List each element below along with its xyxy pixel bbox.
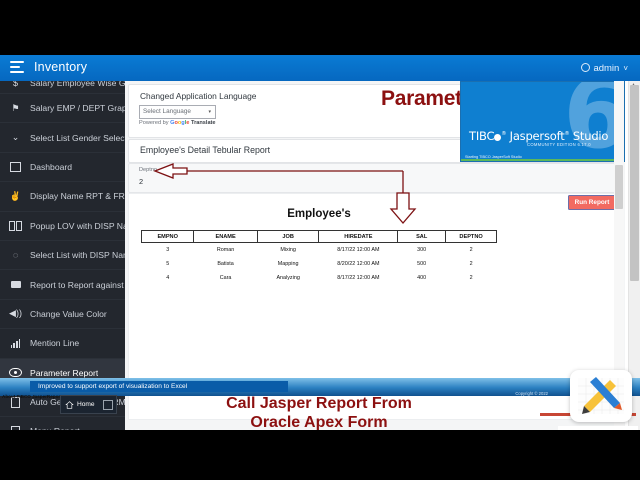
- google-wordmark: Google: [170, 120, 189, 126]
- table-row: 5 Batista Mapping 8/20/22 12:00 AM 500 2: [142, 257, 497, 271]
- cell-hiredate: 8/17/22 12:00 AM: [319, 271, 398, 285]
- user-icon: [581, 63, 590, 72]
- cell-empno: 4: [142, 271, 194, 285]
- sidebar-item-display-name-rpt-frm[interactable]: ✌ Display Name RPT & FRM: [0, 182, 125, 211]
- jasper-status-line: Improved to support export of visualizat…: [30, 381, 288, 392]
- letterbox-bottom: [0, 430, 640, 480]
- cell-job: Mapping: [257, 257, 319, 271]
- chevron-down-icon: ˅: [623, 64, 628, 73]
- apex-pencil-icon: [570, 370, 632, 422]
- callout-line-1: Call Jasper Report From: [129, 394, 509, 413]
- language-select-value: Select Language: [143, 106, 191, 118]
- deptno-label: Deptno: [139, 167, 157, 173]
- annotation-callout: Call Jasper Report From Oracle Apex Form: [129, 394, 509, 430]
- cell-empno: 3: [142, 243, 194, 258]
- cell-job: Analyzing: [257, 271, 319, 285]
- cell-sal: 400: [398, 271, 446, 285]
- sidebar-item-report-to-report-against-id[interactable]: Report to Report against ID: [0, 270, 125, 299]
- suite-name: Studio: [573, 129, 608, 143]
- jaspersoft-wordmark: TIBC® Jaspersoft® Studio: [469, 129, 608, 143]
- letterbox-top: [0, 0, 640, 55]
- cell-hiredate: 8/20/22 12:00 AM: [319, 257, 398, 271]
- sidebar-item-label: Dashboard: [30, 162, 72, 172]
- parameter-card: Deptno 2: [128, 163, 616, 193]
- chevron-down-icon: ▾: [208, 106, 211, 118]
- sidebar-item-select-list-gender-select[interactable]: ⌄ Select List Gender Select: [0, 123, 125, 152]
- column-header: JOB: [257, 231, 319, 243]
- sidebar-item-label: Salary Employee Wise Graph: [30, 81, 125, 88]
- language-select[interactable]: Select Language ▾: [139, 105, 216, 119]
- user-name: admin: [593, 63, 619, 74]
- cell-deptno: 2: [446, 271, 497, 285]
- table-header-row: EMPNO ENAME JOB HIREDATE SAL DEPTNO: [142, 231, 497, 243]
- bar-chart-icon: [8, 337, 23, 350]
- desktop-screen: Inventory admin˅ $ Salary Employee Wise …: [0, 55, 640, 430]
- folder-icon: [8, 278, 23, 291]
- translate-text: Translate: [191, 120, 216, 126]
- sidebar-item-label: Mention Line: [30, 338, 79, 348]
- table-row: 4 Cara Analyzing 8/17/22 12:00 AM 400 2: [142, 271, 497, 285]
- currency-icon: $: [8, 81, 23, 90]
- flag-icon: ⚑: [8, 102, 23, 115]
- column-header: DEPTNO: [446, 231, 497, 243]
- language-card-title: Changed Application Language: [140, 91, 256, 101]
- two-panel-icon: [8, 219, 23, 232]
- speaker-icon: ◀)): [8, 307, 23, 320]
- sidebar-item-label: Change Value Color: [30, 309, 107, 319]
- table-row: 3 Roman Mixing 8/17/22 12:00 AM 300 2: [142, 243, 497, 258]
- home-icon: [65, 401, 74, 409]
- cell-sal: 500: [398, 257, 446, 271]
- hand-icon: ✌: [8, 190, 23, 203]
- jaspersoft-studio-splash: 6 TIBC® Jaspersoft® Studio COMMUNITY EDI…: [460, 81, 625, 162]
- sidebar-item-label: Parameter Report: [30, 368, 98, 378]
- employee-table: EMPNO ENAME JOB HIREDATE SAL DEPTNO 3 Ro…: [141, 230, 497, 285]
- cell-job: Mixing: [257, 243, 319, 258]
- sidebar-item-label: Select List Gender Select: [30, 133, 125, 143]
- sidebar-item-menu-report[interactable]: Menu Report: [0, 417, 125, 430]
- tibco-brand: TIBC: [469, 129, 494, 143]
- powered-by-text: Powered by: [139, 120, 170, 126]
- google-translate-attribution: Powered by Google Translate: [139, 120, 216, 126]
- report-header-title: Employee's Detail Tebular Report: [140, 145, 270, 155]
- home-widget[interactable]: Home: [60, 395, 117, 414]
- run-report-button[interactable]: Run Report: [568, 195, 616, 210]
- sidebar-item-popup-lov-with-disp-name[interactable]: Popup LOV with DISP Name: [0, 212, 125, 241]
- column-header: SAL: [398, 231, 446, 243]
- registered-mark: ®: [501, 131, 506, 137]
- sidebar-item-label: Popup LOV with DISP Name: [30, 221, 125, 231]
- column-header: EMPNO: [142, 231, 194, 243]
- sidebar-item-label: Select List with DISP Name: [30, 250, 125, 260]
- cell-sal: 300: [398, 243, 446, 258]
- sidebar-item-change-value-color[interactable]: ◀)) Change Value Color: [0, 300, 125, 329]
- page-title: Inventory: [34, 60, 87, 74]
- registered-mark: ®: [565, 131, 570, 137]
- edit-icon[interactable]: [103, 400, 113, 410]
- cell-ename: Batista: [194, 257, 257, 271]
- product-name: Jaspersoft: [510, 129, 565, 143]
- callout-line-2: Oracle Apex Form: [129, 413, 509, 430]
- content-scrollbar-thumb[interactable]: [615, 165, 623, 209]
- cell-ename: Roman: [194, 243, 257, 258]
- edition-label: COMMUNITY EDITION 6.17.0: [527, 142, 591, 147]
- sidebar-item-select-list-with-disp-name[interactable]: ◌ Select List with DISP Name: [0, 241, 125, 270]
- hamburger-icon[interactable]: [10, 61, 24, 74]
- user-menu[interactable]: admin˅: [581, 62, 628, 74]
- chevron-down-icon: ⌄: [8, 131, 23, 144]
- sidebar-item-dashboard[interactable]: Dashboard: [0, 153, 125, 182]
- apex-tile: [570, 370, 632, 422]
- sidebar-item-salary-employee-wise-graph[interactable]: $ Salary Employee Wise Graph: [0, 81, 125, 94]
- cell-empno: 5: [142, 257, 194, 271]
- cell-ename: Cara: [194, 271, 257, 285]
- sidebar-item-label: Salary EMP / DEPT Graph: [30, 103, 125, 113]
- sidebar-item-mention-line[interactable]: Mention Line: [0, 329, 125, 358]
- browser-scrollbar-thumb[interactable]: [630, 85, 639, 281]
- column-header: HIREDATE: [319, 231, 398, 243]
- column-header: ENAME: [194, 231, 257, 243]
- home-widget-label: Home: [77, 401, 95, 408]
- progress-bar: [461, 159, 624, 161]
- screenshot-stage: Inventory admin˅ $ Salary Employee Wise …: [0, 0, 640, 480]
- sidebar-item-label: Display Name RPT & FRM: [30, 191, 125, 201]
- cell-hiredate: 8/17/22 12:00 AM: [319, 243, 398, 258]
- apex-header-bar: Inventory admin˅: [0, 55, 640, 81]
- report-title: Employee's: [129, 208, 509, 220]
- dashboard-icon: [8, 160, 23, 173]
- sidebar-item-salary-emp-dept-graph[interactable]: ⚑ Salary EMP / DEPT Graph: [0, 94, 125, 123]
- drop-icon: ◌: [8, 249, 23, 262]
- deptno-input[interactable]: 2: [139, 177, 143, 186]
- cell-deptno: 2: [446, 257, 497, 271]
- sidebar-item-label: Report to Report against ID: [30, 280, 125, 290]
- cell-deptno: 2: [446, 243, 497, 258]
- jasper-copyright: Copyright © 2022: [515, 391, 548, 396]
